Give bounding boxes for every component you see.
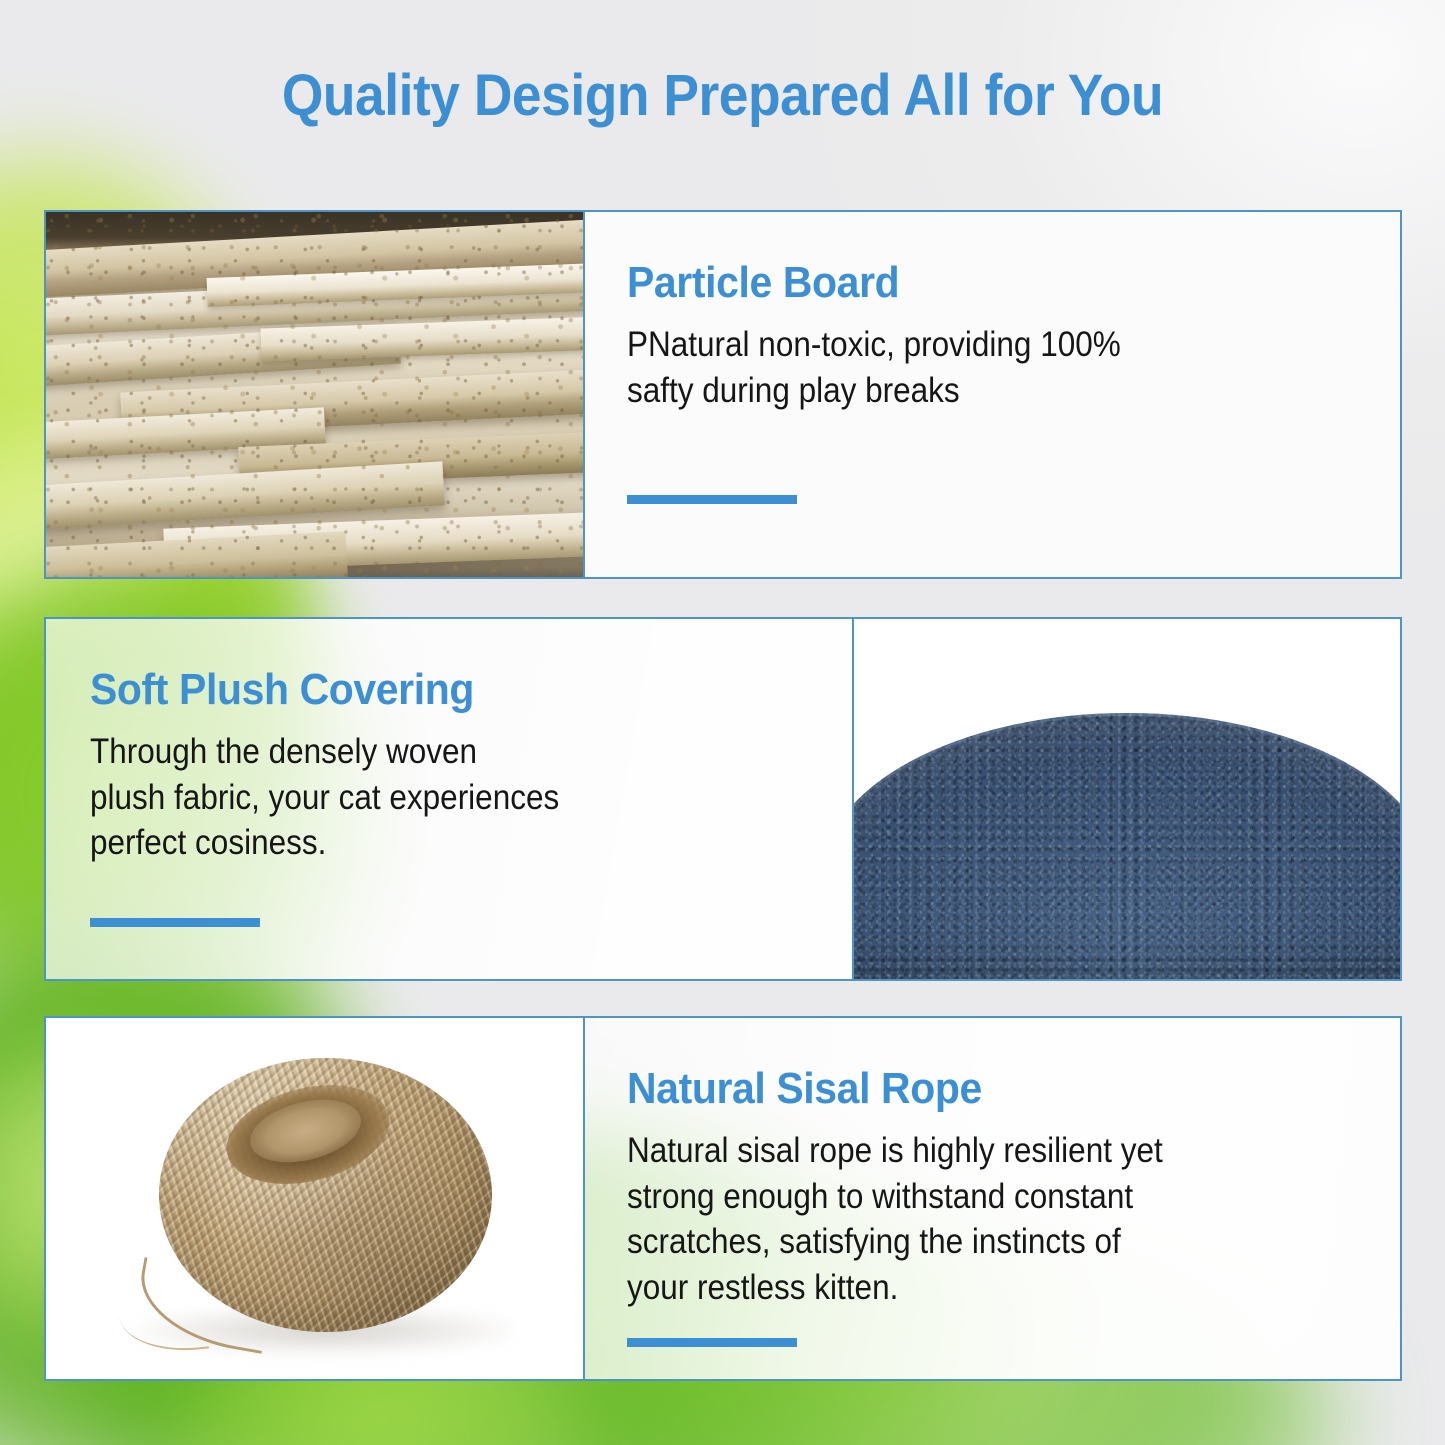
particle-board-text-panel: Particle Board PNatural non-toxic, provi… xyxy=(583,212,1400,577)
card-body-text: Through the densely woven plush fabric, … xyxy=(90,729,742,866)
card-body-text: Natural sisal rope is highly resilient y… xyxy=(627,1128,1287,1310)
card-heading: Particle Board xyxy=(627,258,1309,308)
feature-card-soft-plush-covering: Soft Plush Covering Through the densely … xyxy=(44,617,1402,981)
plush-fibre-texture xyxy=(854,713,1400,979)
page-title: Quality Design Prepared All for You xyxy=(58,62,1387,129)
accent-underline-bar xyxy=(90,918,260,927)
particle-board-image xyxy=(46,212,583,577)
soft-plush-text-panel: Soft Plush Covering Through the densely … xyxy=(46,619,854,979)
card-heading: Soft Plush Covering xyxy=(90,665,763,715)
feature-card-natural-sisal-rope: Natural Sisal Rope Natural sisal rope is… xyxy=(44,1016,1402,1381)
particle-board-photo xyxy=(46,212,583,577)
card-divider xyxy=(852,619,854,979)
card-body-text: PNatural non-toxic, providing 100% safty… xyxy=(627,322,1287,413)
sisal-rope-photo xyxy=(46,1018,583,1379)
sisal-rope-image xyxy=(46,1018,583,1379)
sisal-rope-text-panel: Natural Sisal Rope Natural sisal rope is… xyxy=(583,1018,1400,1379)
accent-underline-bar xyxy=(627,495,797,504)
plush-cushion-shape xyxy=(854,713,1400,979)
card-heading: Natural Sisal Rope xyxy=(627,1064,1309,1114)
accent-underline-bar xyxy=(627,1338,797,1347)
plush-fabric-image xyxy=(854,619,1400,979)
card-divider xyxy=(583,212,585,577)
infographic-canvas: Quality Design Prepared All for You xyxy=(0,0,1445,1445)
feature-card-particle-board: Particle Board PNatural non-toxic, provi… xyxy=(44,210,1402,579)
card-divider xyxy=(583,1018,585,1379)
plush-fabric-photo xyxy=(854,619,1400,979)
